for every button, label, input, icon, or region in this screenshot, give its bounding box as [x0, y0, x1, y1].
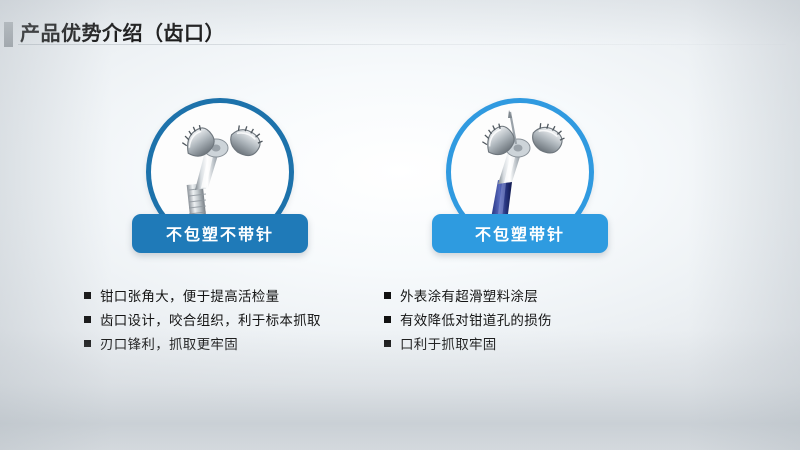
feature-list-right: 外表涂有超滑塑料涂层 有效降低对钳道孔的损伤 口利于抓取牢固: [370, 288, 670, 360]
bullet-square-icon: [384, 340, 391, 347]
list-item: 齿口设计，咬合组织，利于标本抓取: [84, 312, 370, 331]
feature-text: 外表涂有超滑塑料涂层: [400, 288, 538, 307]
list-item: 口利于抓取牢固: [384, 336, 670, 355]
feature-list-left: 钳口张角大，便于提高活检量 齿口设计，咬合组织，利于标本抓取 刃口锋利，抓取更牢…: [70, 288, 370, 360]
slide-title-bar: 产品优势介绍（齿口）: [0, 18, 800, 52]
feature-text: 钳口张角大，便于提高活检量: [100, 288, 279, 307]
list-item: 外表涂有超滑塑料涂层: [384, 288, 670, 307]
bullet-square-icon: [384, 316, 391, 323]
product-label-right[interactable]: 不包塑带针: [432, 214, 608, 253]
bullet-square-icon: [84, 292, 91, 299]
list-item: 刃口锋利，抓取更牢固: [84, 336, 370, 355]
product-column-right: 不包塑带针 外表涂有超滑塑料涂层 有效降低对钳道孔的损伤 口利于抓取牢固: [370, 98, 670, 246]
feature-text: 刃口锋利，抓取更牢固: [100, 336, 238, 355]
product-column-left: 不包塑不带针 钳口张角大，便于提高活检量 齿口设计，咬合组织，利于标本抓取 刃口…: [70, 98, 370, 246]
bullet-square-icon: [84, 340, 91, 347]
slide-canvas: 产品优势介绍（齿口）: [0, 0, 800, 450]
bullet-square-icon: [384, 292, 391, 299]
feature-text: 有效降低对钳道孔的损伤: [400, 312, 552, 331]
list-item: 钳口张角大，便于提高活检量: [84, 288, 370, 307]
title-divider: [18, 44, 786, 45]
title-accent-bar: [4, 22, 13, 47]
product-label-left[interactable]: 不包塑不带针: [132, 214, 308, 253]
list-item: 有效降低对钳道孔的损伤: [384, 312, 670, 331]
feature-text: 齿口设计，咬合组织，利于标本抓取: [100, 312, 321, 331]
bullet-square-icon: [84, 316, 91, 323]
feature-text: 口利于抓取牢固: [400, 336, 497, 355]
